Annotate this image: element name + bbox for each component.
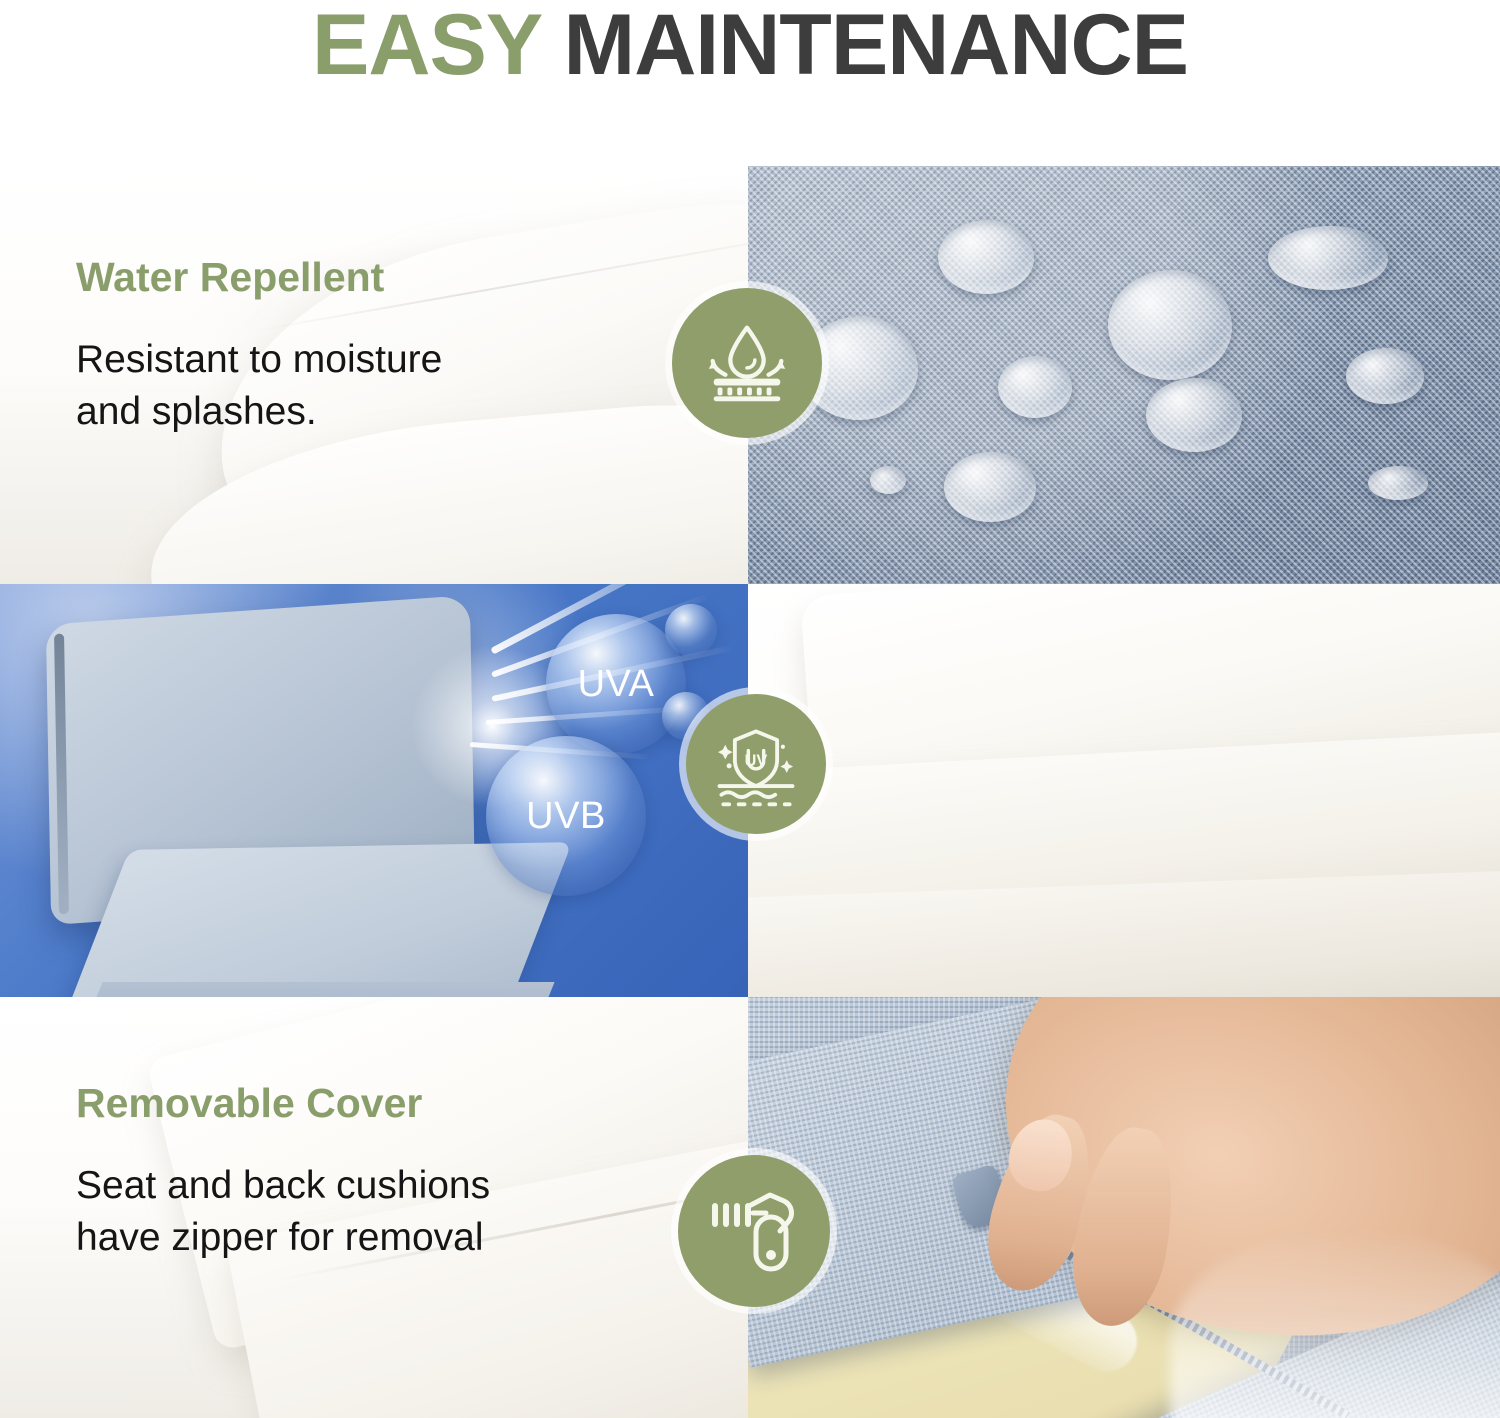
removable-cover-body-line-2: have zipper for removal: [76, 1212, 490, 1264]
cushion-seat-side: [65, 982, 554, 997]
water-droplet: [1368, 466, 1428, 500]
water-droplet: [1146, 378, 1242, 452]
uv-bubble: UVB: [486, 736, 646, 896]
zipper-photo-panel: [748, 997, 1500, 1418]
water-repellent-text-panel: Water Repellent Resistant to moisture an…: [0, 166, 748, 584]
water-droplet: [938, 220, 1034, 294]
header: EASY MAINTENANCE: [0, 0, 1500, 118]
uv-fade-resistant-text-panel: UV Fade Resistant The color stays vibran…: [748, 584, 1500, 997]
zipper-pull-icon: [704, 1181, 804, 1281]
uv-shield-label: UV: [745, 752, 768, 770]
page-title: EASY MAINTENANCE: [312, 2, 1188, 88]
water-droplet: [1268, 226, 1388, 290]
uv-shield-icon: UV: [708, 716, 804, 812]
water-droplet: [944, 452, 1036, 522]
uv-blue-background: UVA UVB: [0, 584, 748, 997]
removable-cover-copy: Removable Cover Seat and back cushions h…: [76, 1081, 490, 1264]
zipper-pull-icon-badge: [678, 1155, 830, 1307]
removable-cover-heading: Removable Cover: [76, 1081, 490, 1126]
white-cushion-photo: [748, 584, 1500, 997]
water-droplet: [1346, 348, 1424, 404]
water-droplet-fabric-photo: [748, 166, 1500, 584]
water-droplet-repel-icon: [698, 314, 796, 412]
uv-bubble-small: [665, 604, 717, 656]
uv-bubble-label: UVB: [526, 795, 606, 838]
removable-cover-body-line-1: Seat and back cushions: [76, 1160, 490, 1212]
feature-row-water-repellent: Water Repellent Resistant to moisture an…: [0, 166, 1500, 584]
page-title-dark-part: MAINTENANCE: [541, 0, 1188, 93]
page-title-green-part: EASY: [312, 0, 541, 93]
water-repellent-copy: Water Repellent Resistant to moisture an…: [76, 255, 442, 438]
water-droplet: [998, 356, 1072, 418]
uv-sun-photo-panel: UVA UVB: [0, 584, 748, 997]
water-droplet: [1108, 270, 1232, 380]
fabric-texture: [748, 166, 1500, 584]
water-repellent-body-line-1: Resistant to moisture: [76, 334, 442, 386]
water-repellent-body-line-2: and splashes.: [76, 386, 442, 438]
feature-row-uv-fade-resistant: UVA UVB UV Fade Resistant The color stay…: [0, 584, 1500, 997]
water-repellent-heading: Water Repellent: [76, 255, 442, 300]
uv-bubble-label: UVA: [578, 663, 655, 706]
zipper-fabric-photo: [748, 997, 1500, 1418]
uv-shield-icon-badge: UV: [686, 694, 826, 834]
infographic-canvas: EASY MAINTENANCE Water Repellent Resista…: [0, 0, 1500, 1418]
water-droplet: [870, 466, 906, 494]
cushion-seat-top: [52, 842, 572, 997]
feature-row-removable-cover: Removable Cover Seat and back cushions h…: [0, 997, 1500, 1418]
water-droplet-repel-icon-badge: [672, 288, 822, 438]
removable-cover-text-panel: Removable Cover Seat and back cushions h…: [0, 997, 748, 1418]
